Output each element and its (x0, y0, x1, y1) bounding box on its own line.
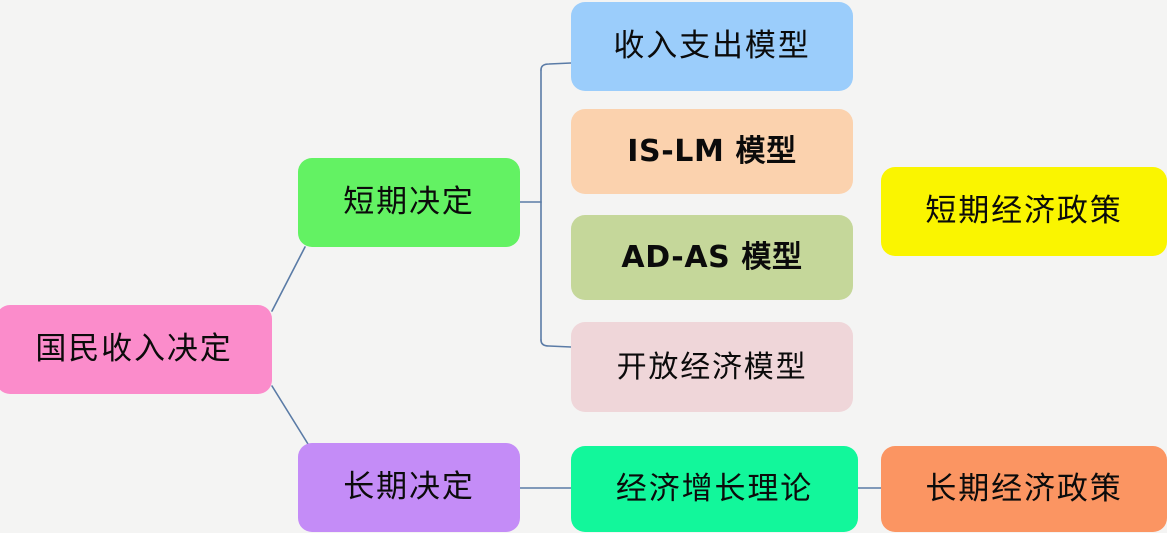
edge-bracket-to-open-economy (541, 340, 571, 347)
node-root-label: 国民收入决定 (35, 332, 232, 366)
node-short-term-economic-policy[interactable]: 短期经济政策 (881, 167, 1167, 256)
edge-bracket-to-income-expend (541, 63, 571, 70)
node-ad-as-label: AD-AS 模型 (621, 241, 802, 274)
node-economic-growth-theory-label: 经济增长理论 (616, 472, 813, 506)
node-root-national-income[interactable]: 国民收入决定 (0, 305, 272, 394)
node-long-term-determination[interactable]: 长期决定 (298, 443, 520, 532)
node-open-economy-model[interactable]: 开放经济模型 (571, 322, 853, 412)
node-long-term-policy-label: 长期经济政策 (925, 472, 1122, 506)
node-income-expenditure-label: 收入支出模型 (613, 29, 810, 63)
node-short-term-label: 短期决定 (343, 185, 474, 219)
node-is-lm-model[interactable]: IS-LM 模型 (571, 109, 853, 194)
node-is-lm-label: IS-LM 模型 (627, 135, 796, 168)
node-ad-as-model[interactable]: AD-AS 模型 (571, 215, 853, 300)
node-short-term-policy-label: 短期经济政策 (925, 194, 1122, 228)
mindmap-canvas: 国民收入决定 短期决定 长期决定 收入支出模型 IS-LM 模型 AD-AS 模… (0, 0, 1167, 533)
node-short-term-determination[interactable]: 短期决定 (298, 158, 520, 247)
node-economic-growth-theory[interactable]: 经济增长理论 (571, 446, 858, 532)
edge-root-to-short-term (272, 247, 305, 311)
node-long-term-label: 长期决定 (343, 470, 474, 504)
edge-root-to-long-term (272, 386, 308, 444)
node-income-expenditure-model[interactable]: 收入支出模型 (571, 2, 853, 91)
node-open-economy-label: 开放经济模型 (617, 351, 808, 384)
node-long-term-economic-policy[interactable]: 长期经济政策 (881, 446, 1167, 532)
